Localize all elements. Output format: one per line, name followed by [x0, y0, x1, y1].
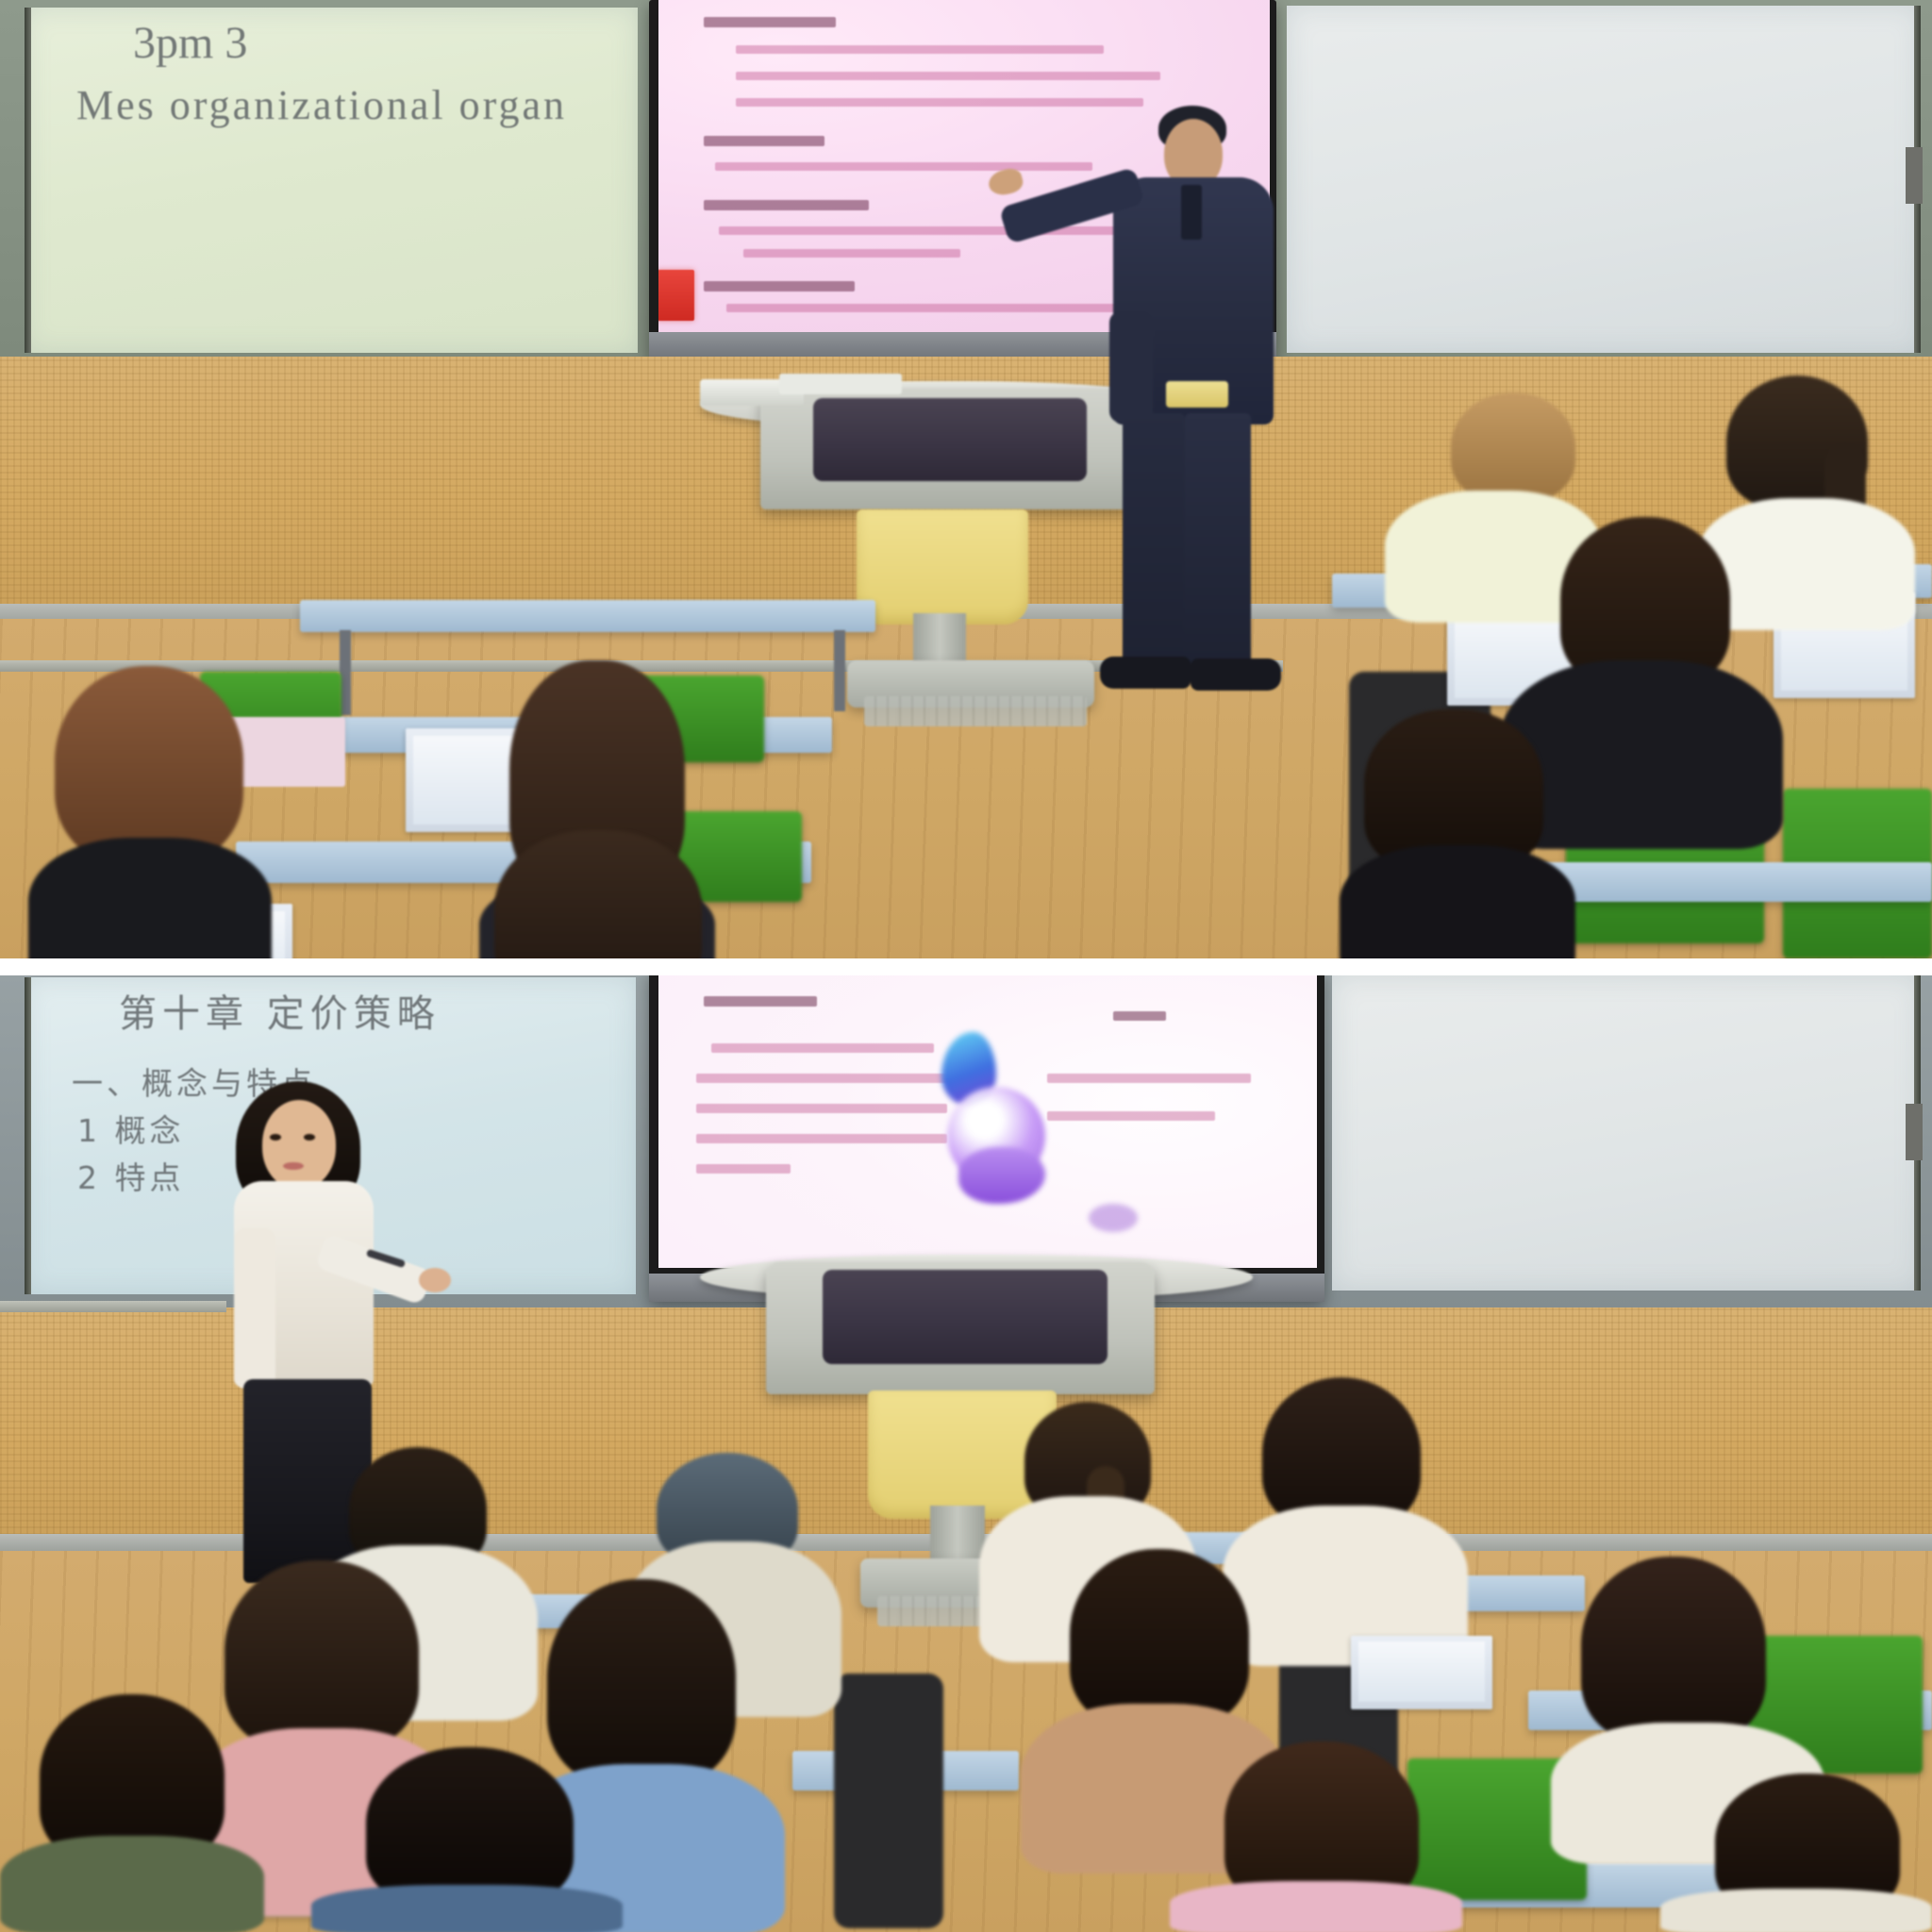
whiteboard-right-gray	[1332, 975, 1921, 1291]
student-laptop	[1351, 1636, 1492, 1709]
slide-text-line	[1047, 1111, 1215, 1121]
instructor-head	[262, 1100, 336, 1189]
student-hair	[225, 1560, 419, 1749]
instructor-eye-right	[304, 1134, 315, 1141]
slide-text-line	[1113, 1011, 1166, 1021]
instructor-notebook	[1166, 381, 1228, 408]
instructor-skirt	[243, 1379, 372, 1583]
student-chair-dark	[834, 1674, 943, 1928]
slide-text-line	[711, 1043, 934, 1053]
panel-bottom-frame: 第十章 定价策略 一、概念与特点 1 概念 2 特点	[0, 975, 1932, 1932]
slide-text-line	[736, 45, 1104, 54]
lectern-monitor	[813, 398, 1087, 481]
student-body	[28, 838, 272, 960]
papers-on-lectern	[779, 374, 902, 394]
panel-top-frame: 3pm 3 Mes organizational organ	[0, 0, 1932, 960]
student-desk	[300, 600, 875, 632]
slide-text-line	[736, 72, 1160, 80]
lectern-keyboard	[864, 696, 1087, 726]
slide-text-line	[696, 1164, 791, 1174]
instructor-shoe-left	[1100, 657, 1191, 689]
panel-separator-gap	[0, 958, 1932, 975]
slide-text-line	[736, 98, 1143, 107]
student-hair	[55, 666, 243, 864]
student-body	[1660, 1889, 1932, 1932]
two-panel-classroom-composite: 3pm 3 Mes organizational organ	[0, 0, 1932, 1932]
slide-text-line	[719, 226, 1162, 235]
board-frame-left	[25, 8, 31, 353]
laptop-screen	[1358, 1641, 1485, 1702]
student-hair	[1070, 1549, 1249, 1726]
student-hair	[366, 1747, 574, 1906]
instructor-hand	[419, 1268, 451, 1292]
slide-text-line	[704, 281, 855, 291]
whiteboard-handwriting-item-1: 1 概念	[77, 1106, 185, 1151]
student-hair	[494, 830, 702, 960]
slide-flourish-icon	[1089, 1204, 1138, 1232]
student-hair	[1451, 392, 1575, 502]
slide-surface-bottom	[658, 975, 1317, 1268]
slide-text-line	[704, 136, 824, 146]
slide-text-line	[696, 1104, 947, 1113]
student-body	[1170, 1881, 1462, 1932]
instructor-arm-left	[234, 1228, 275, 1389]
instructor-arm-lower	[1109, 311, 1153, 423]
slide-text-line	[704, 17, 836, 27]
slide-text-line	[704, 200, 869, 210]
whiteboard-handwriting-line-2: Mes organizational organ	[76, 81, 567, 129]
instructor-leg-right	[1185, 413, 1251, 666]
lectern-monitor	[823, 1270, 1108, 1364]
instructor-eye-left	[270, 1134, 281, 1141]
student-body	[311, 1885, 623, 1932]
whiteboard-left-green: 3pm 3 Mes organizational organ	[25, 8, 638, 353]
podium-platform-edge	[0, 1301, 226, 1312]
slide-text-line	[715, 162, 1092, 171]
slide-text-line	[743, 249, 960, 258]
slide-red-stamp-icon	[658, 270, 694, 321]
student-body	[0, 1836, 264, 1932]
student-body	[1340, 845, 1575, 960]
whiteboard-handwriting-line-1: 3pm 3	[133, 17, 247, 69]
projection-screen-bottom	[649, 975, 1324, 1302]
whiteboard-right-gray	[1287, 6, 1921, 353]
slide-text-line	[696, 1074, 949, 1083]
instructor-leg-left	[1123, 413, 1185, 668]
lectern-front-panel	[857, 509, 1028, 625]
slide-text-line	[726, 304, 1123, 312]
board-frame-left	[25, 977, 31, 1294]
slide-text-line	[704, 996, 817, 1007]
instructor-tie	[1181, 185, 1202, 240]
desk-leg	[834, 630, 845, 711]
board-edge-bracket	[1906, 147, 1923, 204]
whiteboard-handwriting-item-2: 2 特点	[77, 1153, 185, 1198]
slide-text-line	[1047, 1074, 1251, 1083]
board-edge-bracket	[1906, 1104, 1923, 1160]
instructor-shoe-right	[1191, 658, 1281, 691]
student-hair	[547, 1579, 736, 1783]
whiteboard-handwriting-title: 第十章 定价策略	[119, 983, 441, 1038]
student-hair	[1581, 1557, 1766, 1741]
student-body	[1698, 498, 1915, 630]
slide-petal-icon	[958, 1147, 1045, 1204]
instructor-mouth	[283, 1162, 304, 1170]
slide-text-line	[696, 1134, 947, 1143]
